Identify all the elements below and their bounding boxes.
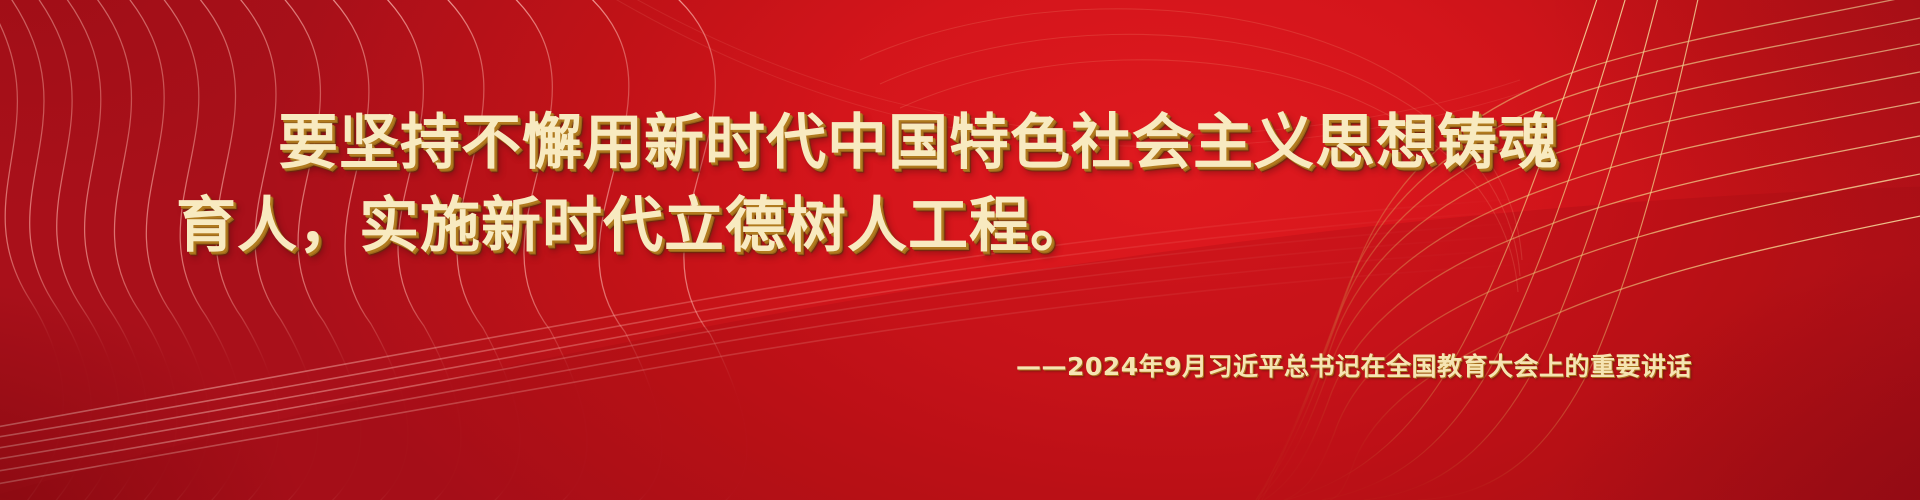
headline-line-2: 育人，实施新时代立德树人工程。 <box>176 196 1091 256</box>
slogan-banner: 要坚持不懈用新时代中国特色社会主义思想铸魂 育人，实施新时代立德树人工程。 ——… <box>0 0 1920 500</box>
attribution-source: ——2024年9月习近平总书记在全国教育大会上的重要讲话 <box>1016 354 1692 379</box>
headline-line-1: 要坚持不懈用新时代中国特色社会主义思想铸魂 <box>278 113 1559 173</box>
text-block: 要坚持不懈用新时代中国特色社会主义思想铸魂 育人，实施新时代立德树人工程。 ——… <box>0 0 1920 500</box>
